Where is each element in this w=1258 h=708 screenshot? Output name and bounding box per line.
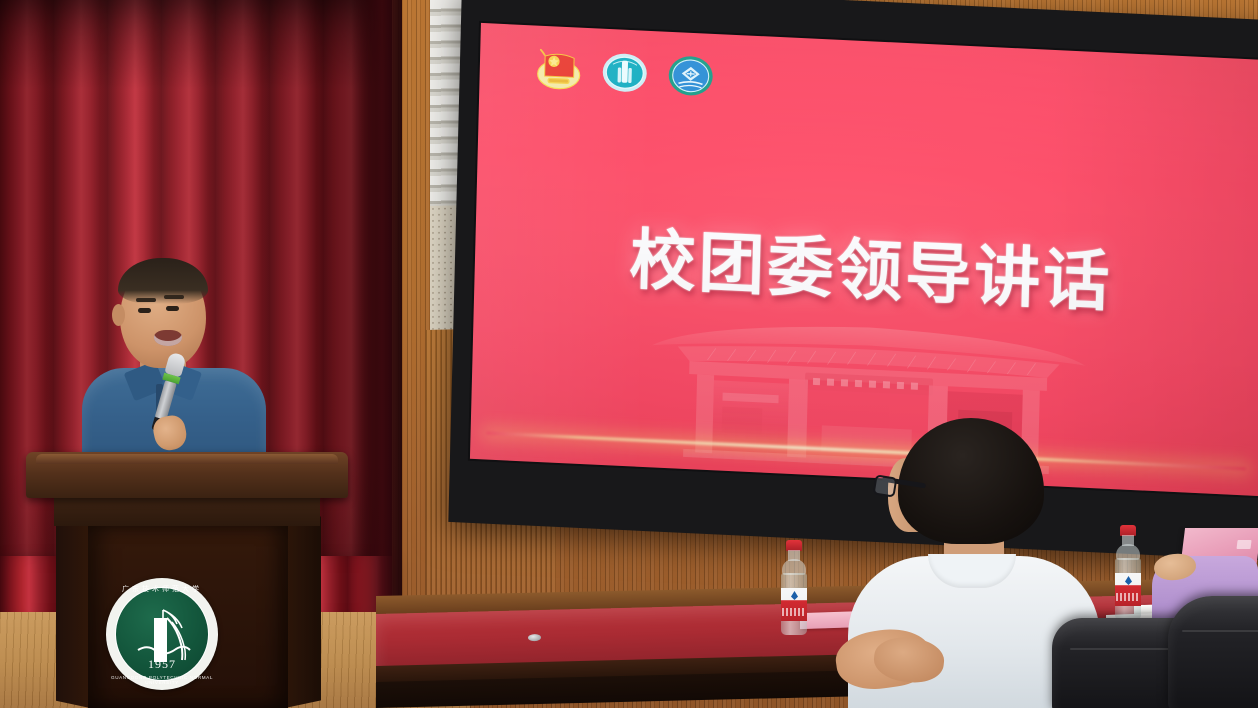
- lectern-apron: [54, 496, 320, 526]
- folder-label-tag: [1236, 540, 1251, 549]
- university-emblem-en-text: GUANGDONG POLYTECHNIC NORMAL UNIVERSITY: [106, 675, 218, 685]
- university-youth-league-emblem: [667, 54, 714, 98]
- secondary-institution-emblem: [601, 51, 648, 95]
- lectern-top-lip: [36, 454, 338, 464]
- slide-emblem-row: [535, 48, 714, 98]
- speaker-brow-left: [136, 298, 156, 302]
- glasses-lens: [873, 474, 898, 497]
- university-emblem-cn-text: 广东技术师范大学: [106, 584, 218, 614]
- guangdong-polytechnic-normal-university-emblem: 广东技术师范大学 1957 GUANGDONG POLYTECHNIC NORM…: [106, 578, 218, 690]
- university-emblem-year: 1957: [106, 657, 218, 672]
- bottle-label-text: [782, 608, 806, 616]
- chair-seam: [1182, 630, 1258, 632]
- speaker-brow-right: [164, 295, 184, 299]
- table-cable-grommet: [528, 634, 541, 641]
- speaker-ear: [112, 304, 125, 326]
- chair-back-right: [1168, 596, 1258, 708]
- lectern-side-left: [56, 517, 90, 708]
- lectern-side-right: [285, 516, 321, 708]
- lectern-top: [26, 452, 348, 498]
- attendee-hair: [898, 418, 1044, 544]
- water-bottle-right: [1113, 525, 1143, 621]
- water-bottle-left: [779, 540, 809, 636]
- speaker-eye-right: [166, 306, 179, 311]
- speaker-mouth: [154, 330, 182, 346]
- podium-speaker: [78, 250, 268, 480]
- communist-youth-league-emblem: [535, 48, 582, 92]
- speaker-eye-left: [138, 308, 151, 313]
- bottle-label-text: [1116, 593, 1140, 601]
- speaker-hair: [118, 258, 208, 304]
- stage-curtain-edge-shadow: [352, 0, 402, 620]
- photo-scene: 校团委领导讲话: [0, 0, 1258, 708]
